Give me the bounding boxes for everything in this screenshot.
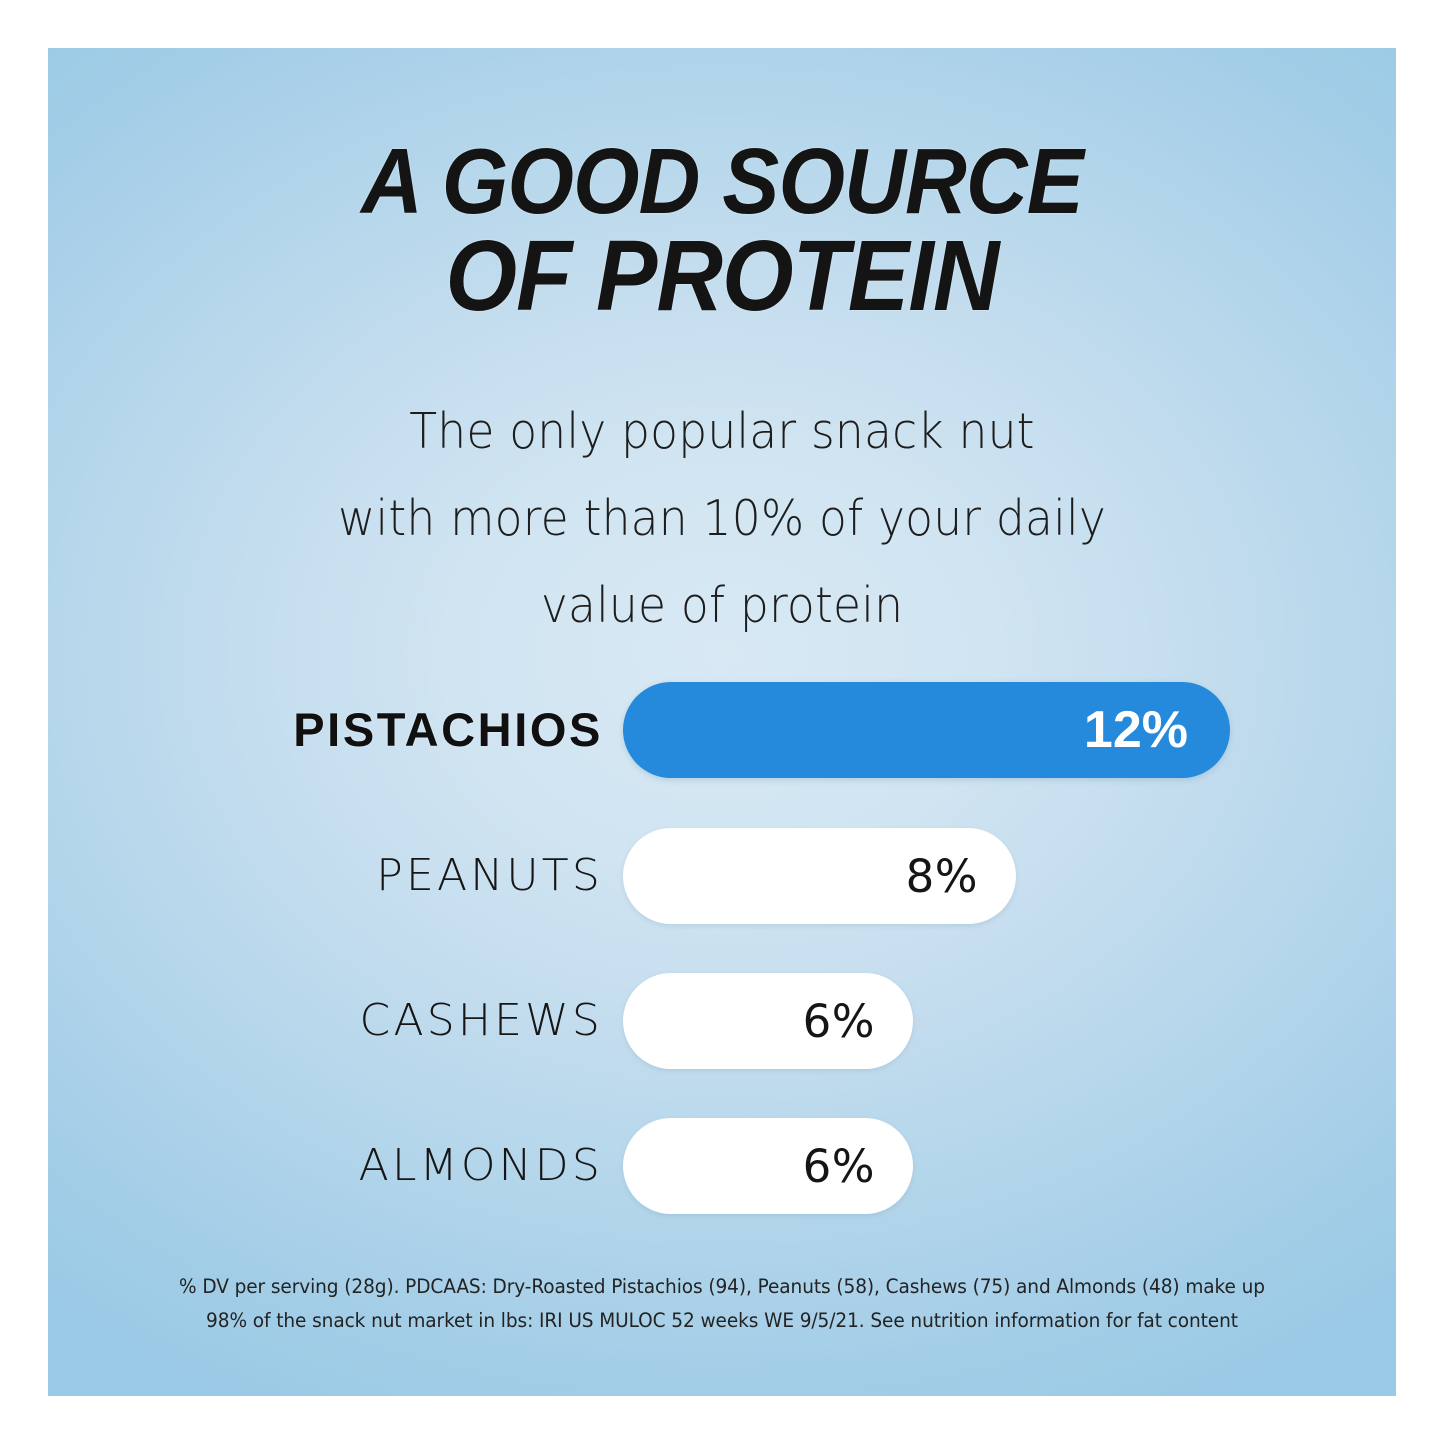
- subtitle: The only popular snack nut with more tha…: [95, 388, 1349, 649]
- bar-track-peanuts: 8%: [623, 828, 1016, 924]
- bar-track-almonds: 6%: [623, 1118, 913, 1214]
- page-title: A GOOD SOURCE OF PROTEIN: [102, 136, 1342, 325]
- bar-row: PISTACHIOS 12%: [48, 682, 1396, 778]
- bar-row: ALMONDS 6%: [48, 1118, 1396, 1214]
- subtitle-line-2: with more than 10% of your daily: [95, 475, 1349, 562]
- bar-fill-cashews: 6%: [623, 973, 913, 1069]
- bar-fill-pistachios: 12%: [623, 682, 1230, 778]
- bar-label-almonds: ALMONDS: [359, 1118, 603, 1214]
- bar-chart: PISTACHIOS 12% PEANUTS 8% CASHEWS: [48, 682, 1396, 1263]
- bar-track-pistachios: 12%: [623, 682, 1230, 778]
- bar-value-cashews: 6%: [803, 995, 875, 1048]
- bar-row: CASHEWS 6%: [48, 973, 1396, 1069]
- subtitle-line-3: value of protein: [95, 562, 1349, 649]
- subtitle-line-1: The only popular snack nut: [95, 388, 1349, 475]
- bar-track-cashews: 6%: [623, 973, 913, 1069]
- bar-label-pistachios: PISTACHIOS: [293, 682, 603, 778]
- bar-row: PEANUTS 8%: [48, 828, 1396, 924]
- bar-fill-almonds: 6%: [623, 1118, 913, 1214]
- bar-value-pistachios: 12%: [1084, 700, 1188, 760]
- bar-label-peanuts: PEANUTS: [376, 828, 603, 924]
- headline-line-1: A GOOD SOURCE: [102, 136, 1342, 227]
- footnote-line-2: 98% of the snack nut market in lbs: IRI …: [82, 1304, 1363, 1338]
- bar-value-peanuts: 8%: [906, 850, 978, 903]
- bar-label-cashews: CASHEWS: [360, 973, 603, 1069]
- infographic-frame: A GOOD SOURCE OF PROTEIN The only popula…: [0, 0, 1445, 1445]
- bar-fill-peanuts: 8%: [623, 828, 1016, 924]
- bar-value-almonds: 6%: [803, 1140, 875, 1193]
- footnote-line-1: % DV per serving (28g). PDCAAS: Dry-Roas…: [82, 1270, 1363, 1304]
- headline-line-2: OF PROTEIN: [102, 227, 1342, 325]
- infographic-panel: A GOOD SOURCE OF PROTEIN The only popula…: [48, 48, 1396, 1396]
- footnote: % DV per serving (28g). PDCAAS: Dry-Roas…: [82, 1270, 1363, 1338]
